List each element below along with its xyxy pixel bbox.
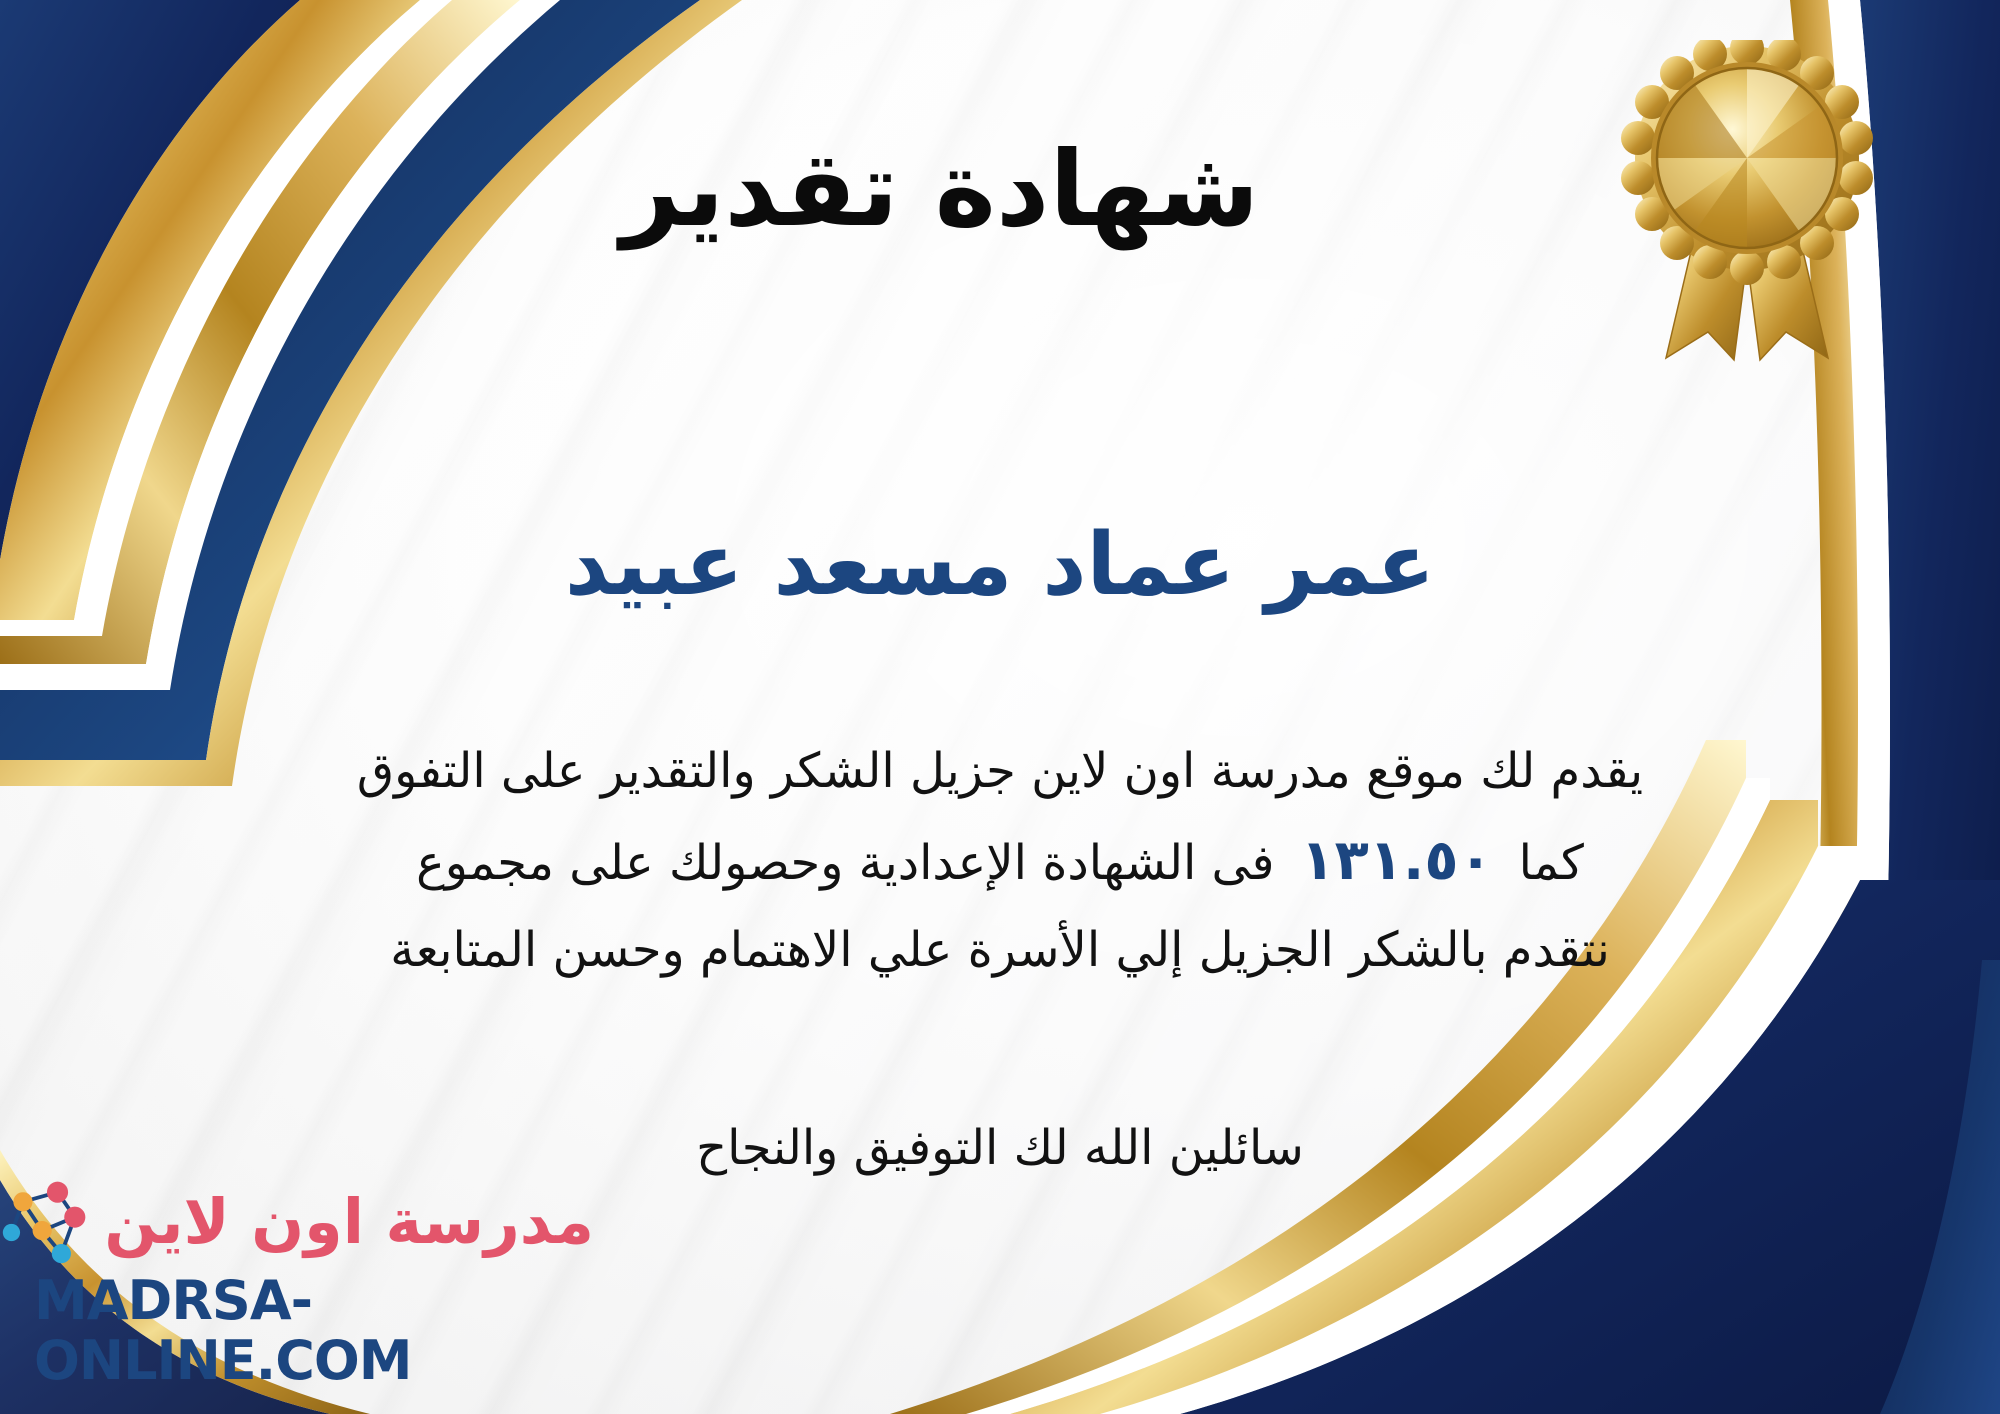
body-line-1: يقدم لك موقع مدرسة اون لاين جزيل الشكر و… [60, 730, 1940, 813]
closing-wish: سائلين الله لك التوفيق والنجاح [0, 1110, 2000, 1187]
body-line-2-suffix: فى الشهادة الإعدادية وحصولك على مجموع [416, 835, 1274, 891]
certificate-body: يقدم لك موقع مدرسة اون لاين جزيل الشكر و… [60, 730, 1940, 991]
certificate-page: شهادة تقدير عمر عماد مسعد عبيد يقدم لك م… [0, 0, 2000, 1414]
body-line-2: كما١٣١.٥٠فى الشهادة الإعدادية وحصولك على… [60, 813, 1940, 909]
certificate-title: شهادة تقدير [0, 128, 2000, 251]
certificate-content: شهادة تقدير عمر عماد مسعد عبيد يقدم لك م… [0, 0, 2000, 1414]
body-line-2-prefix: كما [1519, 835, 1584, 891]
body-line-3: نتقدم بالشكر الجزيل إلي الأسرة علي الاهت… [60, 909, 1940, 992]
recipient-name: عمر عماد مسعد عبيد [0, 512, 2000, 620]
grade-value: ١٣١.٥٠ [1275, 828, 1519, 893]
